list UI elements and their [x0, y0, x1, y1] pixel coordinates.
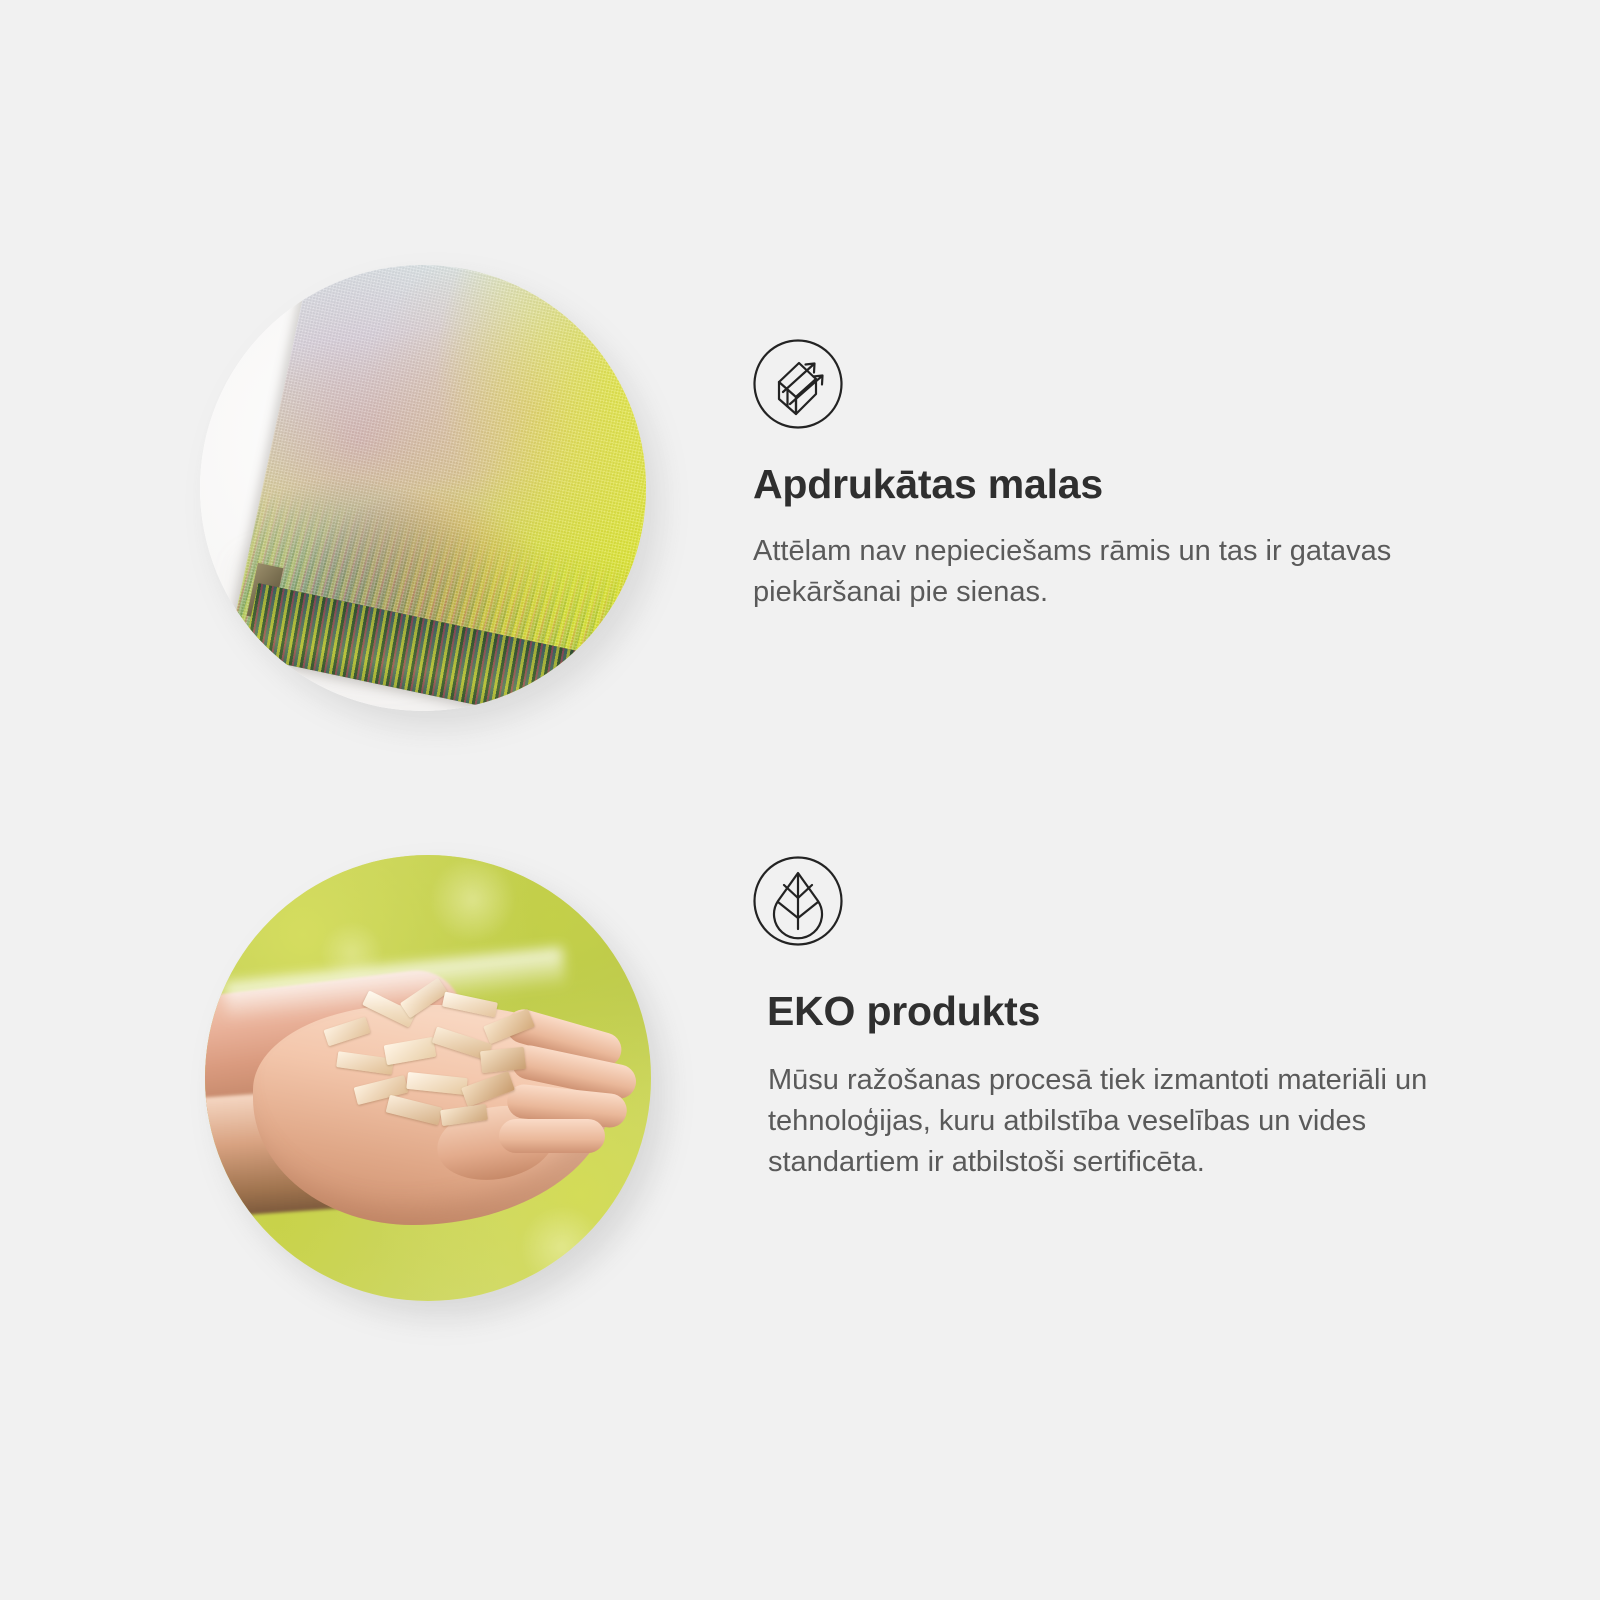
canvas-print-corner-photo — [200, 265, 646, 711]
hand-holding-wood-chips-photo — [205, 855, 651, 1301]
feature-description-printed-edges: Attēlam nav nepieciešams rāmis un tas ir… — [753, 531, 1453, 613]
feature-description-eco-product: Mūsu ražošanas procesā tiek izmantoti ma… — [768, 1060, 1468, 1184]
page-title-printed-edges: Apdrukātas malas — [753, 462, 1103, 507]
feature-highlights-page: Apdrukātas malas Attēlam nav nepieciešam… — [0, 0, 1600, 1600]
leaf-icon — [752, 855, 844, 947]
page-title-eco-product: EKO produkts — [767, 989, 1040, 1034]
feature-section-eco-product: EKO produkts Mūsu ražošanas procesā tiek… — [0, 855, 1600, 1315]
canvas-wrapped-edge-arrows-icon — [752, 338, 844, 430]
feature-section-printed-edges: Apdrukātas malas Attēlam nav nepieciešam… — [0, 265, 1600, 725]
